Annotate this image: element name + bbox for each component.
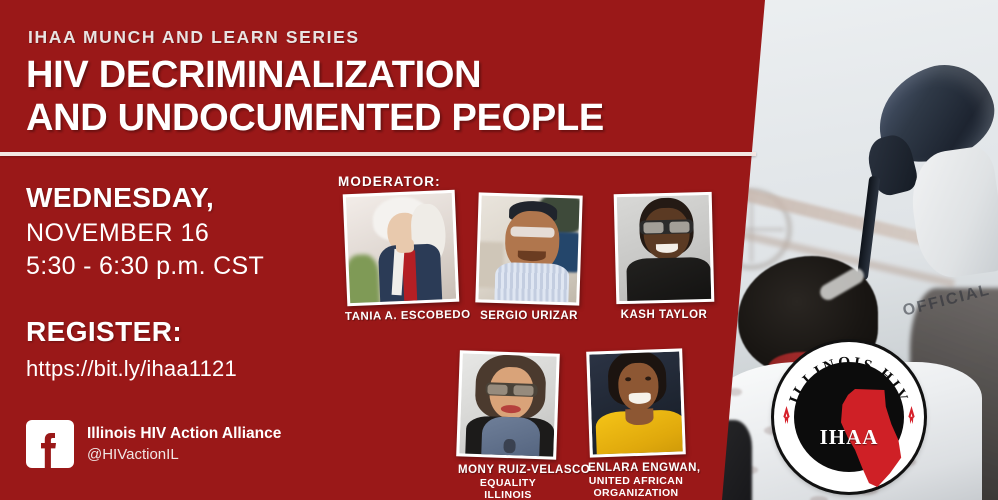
headshot-enlara	[589, 351, 682, 454]
event-flyer: OFFICIAL ILLINOIS HIV ACTION ALLIANCE IH…	[0, 0, 998, 500]
speaker-org-line-2: ORGANIZATION	[593, 487, 678, 499]
photo-frame	[586, 348, 686, 457]
speaker-card-kash: KASH TAYLOR	[615, 193, 713, 322]
photo-frame	[456, 350, 560, 459]
headshot-tania	[346, 193, 456, 303]
red-ribbon-icon	[782, 405, 791, 425]
speaker-org-line-1: UNITED AFRICAN	[589, 475, 683, 487]
register-label: REGISTER:	[26, 316, 182, 348]
red-ribbon-icon	[907, 405, 916, 425]
event-day: WEDNESDAY,	[26, 182, 214, 214]
header-divider	[0, 152, 756, 156]
ihaa-logo: ILLINOIS HIV ACTION ALLIANCE IHAA	[774, 342, 924, 492]
event-date: NOVEMBER 16	[26, 219, 209, 248]
headshot-mony	[459, 353, 556, 456]
logo-inner-disc: IHAA	[794, 362, 904, 472]
moderator-label: MODERATOR:	[338, 174, 441, 189]
speaker-org: UNITED AFRICAN ORGANIZATION	[588, 475, 684, 499]
series-eyebrow: IHAA MUNCH AND LEARN SERIES	[28, 27, 360, 48]
facebook-icon[interactable]	[26, 420, 74, 468]
headshot-kash	[617, 195, 712, 301]
speaker-card-sergio: SERGIO URIZAR	[477, 194, 581, 323]
facebook-link[interactable]: Illinois HIV Action Alliance @HIVactionI…	[26, 420, 281, 468]
title-line-2: AND UNDOCUMENTED PEOPLE	[26, 97, 604, 140]
speaker-name: KASH TAYLOR	[615, 309, 713, 322]
facebook-handle: @HIVactionIL	[87, 446, 281, 463]
speaker-name: MONY RUIZ-VELASCO	[458, 464, 558, 477]
event-time: 5:30 - 6:30 p.m. CST	[26, 252, 264, 281]
photo-frame	[475, 192, 582, 305]
register-link[interactable]: https://bit.ly/ihaa1121	[26, 356, 237, 382]
speaker-card-mony: MONY RUIZ-VELASCO EQUALITY ILLINOIS	[458, 352, 558, 500]
speaker-org: EQUALITY ILLINOIS	[458, 477, 558, 500]
page-title: HIV DECRIMINALIZATION AND UNDOCUMENTED P…	[26, 54, 604, 140]
speaker-name: TANIA A. ESCOBEDO	[345, 309, 457, 324]
speaker-card-tania: TANIA A. ESCOBEDO	[345, 192, 457, 323]
logo-center-text: IHAA	[794, 425, 904, 450]
photo-frame	[343, 190, 460, 307]
photo-frame	[614, 192, 715, 304]
title-line-1: HIV DECRIMINALIZATION	[26, 54, 604, 97]
speaker-name: ENLARA ENGWAN,	[588, 462, 684, 475]
facebook-page-name: Illinois HIV Action Alliance	[87, 425, 281, 443]
headshot-sergio	[478, 195, 579, 302]
facebook-text: Illinois HIV Action Alliance @HIVactionI…	[87, 425, 281, 463]
speaker-name: SERGIO URIZAR	[477, 310, 581, 323]
speaker-card-enlara: ENLARA ENGWAN, UNITED AFRICAN ORGANIZATI…	[588, 350, 684, 499]
